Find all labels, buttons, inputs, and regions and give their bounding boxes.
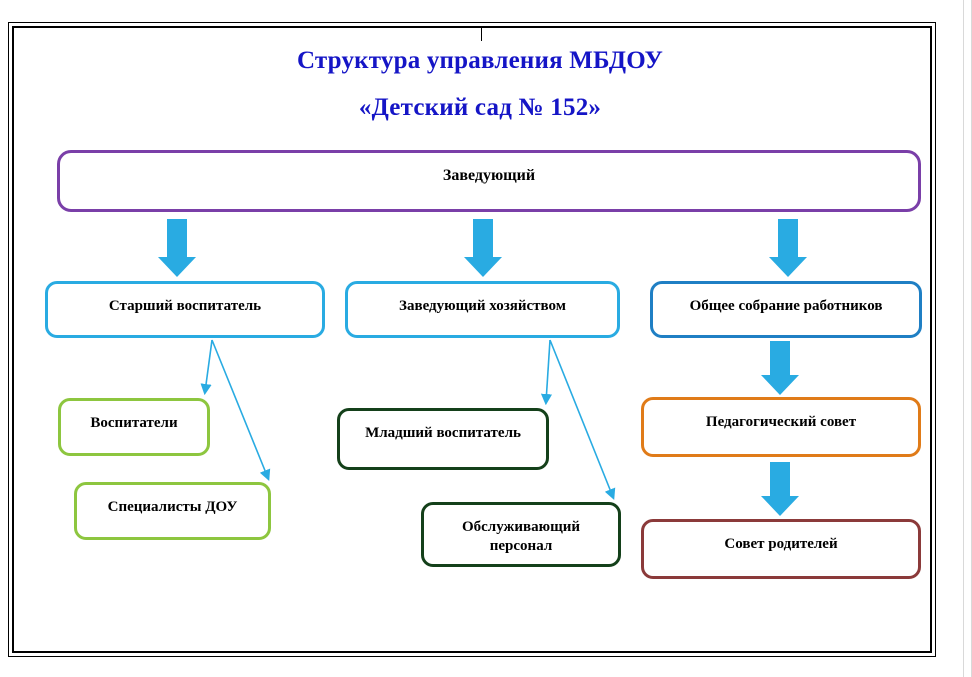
arrow-head-to-senior-teacher xyxy=(157,219,197,277)
page-gutter-line-left xyxy=(963,0,964,677)
node-teachers-label: Воспитатели xyxy=(69,414,199,433)
page-title-line-1: Структура управления МБДОУ xyxy=(60,48,900,73)
node-junior-teacher[interactable]: Младший воспитатель xyxy=(337,408,549,470)
arrow-general-meeting-to-pedagogical-council xyxy=(760,341,800,395)
node-service-staff[interactable]: Обслуживающий персонал xyxy=(421,502,621,567)
node-housekeeping[interactable]: Заведующий хозяйством xyxy=(345,281,620,338)
node-head-label: Заведующий xyxy=(68,166,910,186)
arrow-head xyxy=(761,496,799,516)
page-title-line-2: «Детский сад № 152» xyxy=(60,95,900,120)
arrow-shaft xyxy=(167,219,187,259)
arrow-head-to-general-meeting xyxy=(768,219,808,277)
node-parents-council[interactable]: Совет родителей xyxy=(641,519,921,579)
node-senior-teacher-label: Старший воспитатель xyxy=(56,297,314,316)
node-general-meeting[interactable]: Общее собрание работников xyxy=(650,281,922,338)
page-title: Структура управления МБДОУ «Детский сад … xyxy=(60,48,900,120)
node-parents-council-label: Совет родителей xyxy=(652,535,910,554)
node-service-staff-label: Обслуживающий персонал xyxy=(432,518,610,556)
node-teachers[interactable]: Воспитатели xyxy=(58,398,210,456)
text-caret xyxy=(481,26,482,41)
arrow-shaft xyxy=(770,341,790,377)
slide-canvas: Структура управления МБДОУ «Детский сад … xyxy=(0,0,972,677)
arrow-pedagogical-council-to-parents-council xyxy=(760,462,800,516)
node-senior-teacher[interactable]: Старший воспитатель xyxy=(45,281,325,338)
arrow-head xyxy=(464,257,502,277)
node-general-meeting-label: Общее собрание работников xyxy=(661,297,911,316)
node-housekeeping-label: Заведующий хозяйством xyxy=(356,297,609,316)
arrow-head xyxy=(761,375,799,395)
node-junior-teacher-label: Младший воспитатель xyxy=(348,424,538,443)
node-head[interactable]: Заведующий xyxy=(57,150,921,212)
arrow-head xyxy=(769,257,807,277)
node-pedagogical-council[interactable]: Педагогический совет xyxy=(641,397,921,457)
arrow-shaft xyxy=(778,219,798,259)
arrow-head-to-housekeeping xyxy=(463,219,503,277)
arrow-shaft xyxy=(473,219,493,259)
arrow-shaft xyxy=(770,462,790,498)
arrow-head xyxy=(158,257,196,277)
node-specialists-label: Специалисты ДОУ xyxy=(85,498,260,517)
node-pedagogical-council-label: Педагогический совет xyxy=(652,413,910,432)
node-specialists[interactable]: Специалисты ДОУ xyxy=(74,482,271,540)
